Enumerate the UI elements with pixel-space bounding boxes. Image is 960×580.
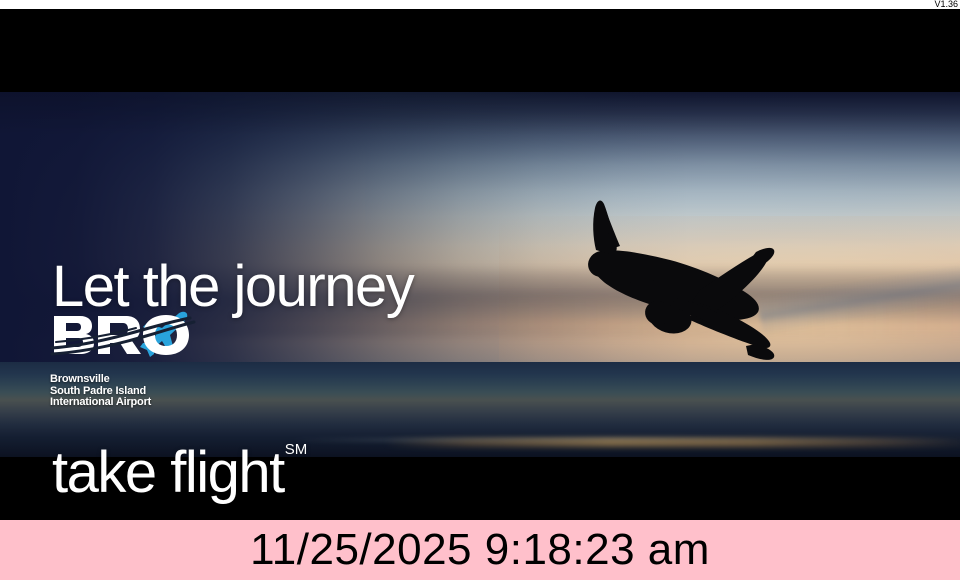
current-datetime: 11/25/2025 9:18:23 am: [250, 526, 710, 574]
digital-signage-screen: V1.36: [0, 0, 960, 580]
tagline-line-1: Let the journey: [52, 256, 413, 318]
version-strip: V1.36: [0, 0, 960, 9]
logo-subtitle-line-3: International Airport: [50, 397, 200, 409]
airplane-silhouette: [560, 186, 840, 366]
version-label: V1.36: [934, 0, 958, 9]
logo-subtitle: Brownsville South Padre Island Internati…: [50, 374, 200, 409]
tagline-line-2-row: take flightSM: [52, 442, 413, 504]
logo-subtitle-line-1: Brownsville: [50, 374, 200, 386]
tagline-service-mark: SM: [285, 441, 308, 458]
tagline-line-2: take flight: [52, 440, 284, 505]
airport-logo: Brownsville South Padre Island Internati…: [50, 310, 200, 409]
clock-bar: 11/25/2025 9:18:23 am: [0, 520, 960, 580]
logo-wordmark: [50, 310, 200, 372]
